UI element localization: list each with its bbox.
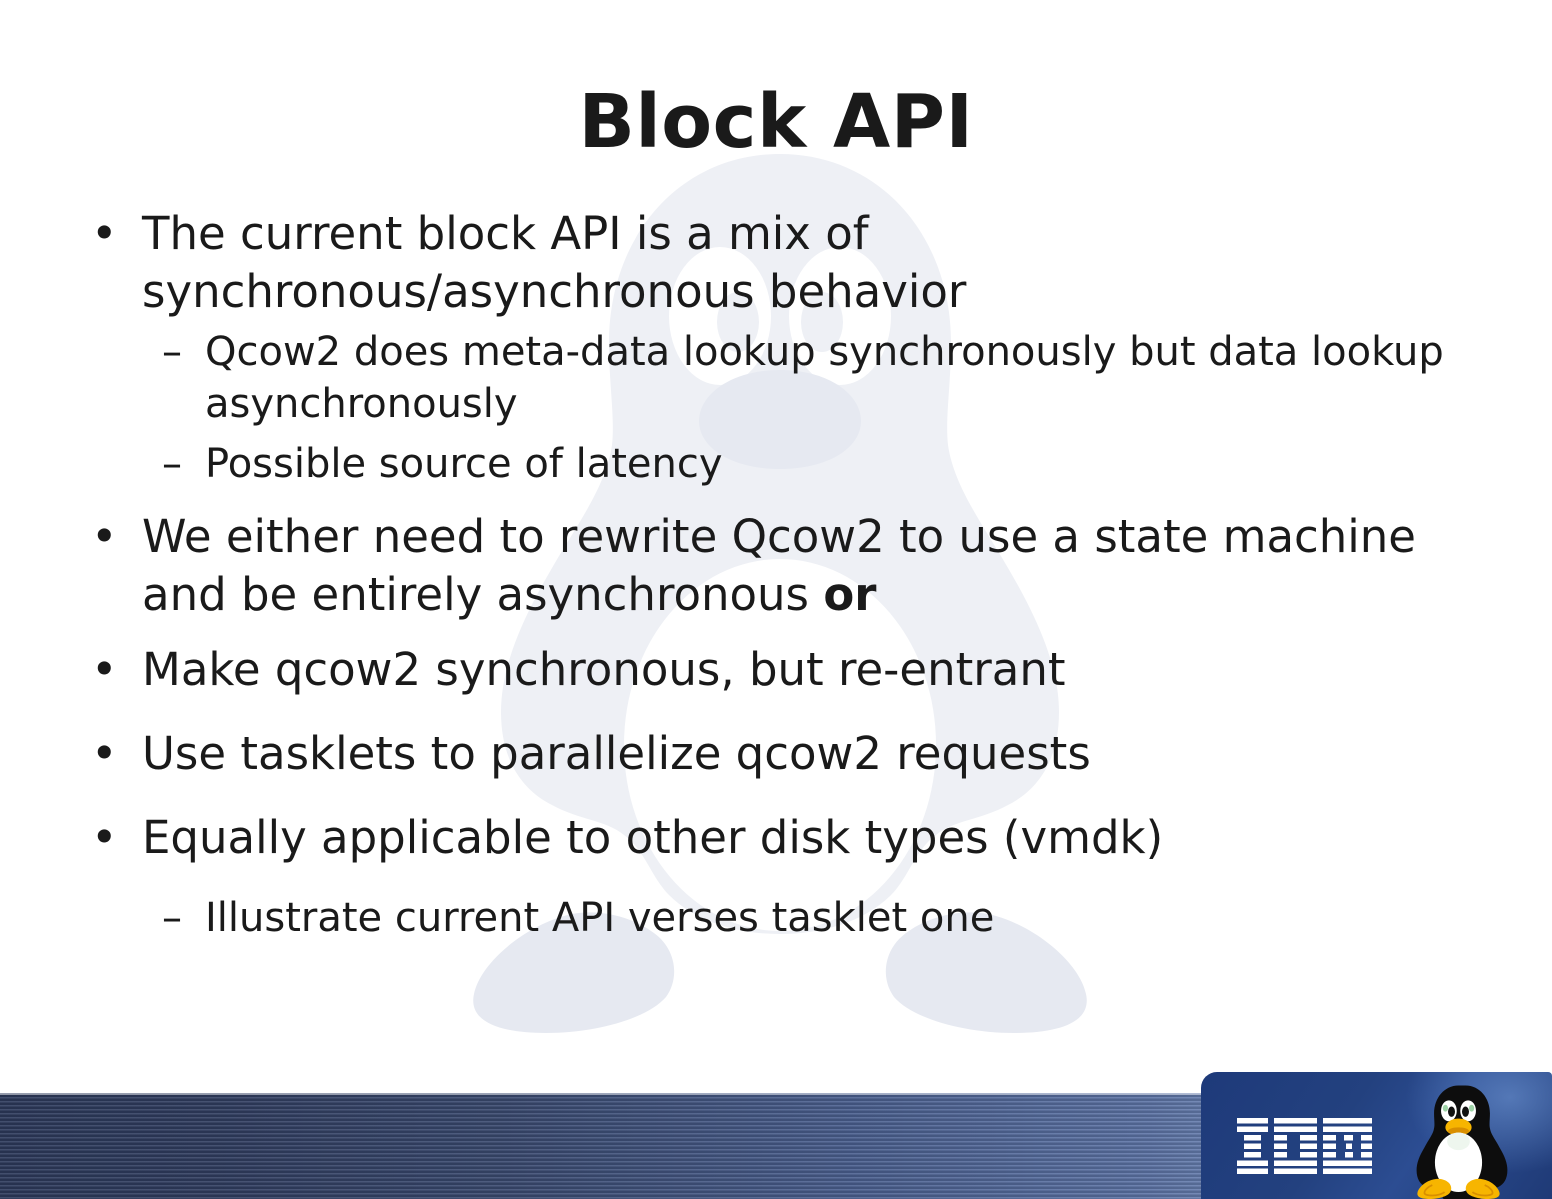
bullet-text: Illustrate current API verses tasklet on… xyxy=(205,895,994,941)
bullet-text: Qcow2 does meta-data lookup synchronousl… xyxy=(205,329,1444,427)
slide: Block API • The current block API is a m… xyxy=(0,0,1552,1199)
bullet-text: Make qcow2 synchronous, but re-entrant xyxy=(142,643,1066,696)
bullet-item: • The current block API is a mix of sync… xyxy=(78,205,1432,320)
bullet-item: • We either need to rewrite Qcow2 to use… xyxy=(78,508,1432,623)
bullet-item: • Make qcow2 synchronous, but re-entrant xyxy=(78,641,1432,699)
tux-penguin-icon xyxy=(1406,1082,1511,1199)
bullet-item: • Equally applicable to other disk types… xyxy=(78,809,1432,867)
ibm-logo-icon xyxy=(1237,1118,1372,1174)
bullet-text: Use tasklets to parallelize qcow2 reques… xyxy=(142,727,1091,780)
bullet-text: We either need to rewrite Qcow2 to use a… xyxy=(142,510,1416,621)
bullet-marker: • xyxy=(91,641,118,699)
bullet-marker: – xyxy=(162,326,182,378)
bullet-marker: – xyxy=(162,892,182,944)
bullet-item: – Possible source of latency xyxy=(78,438,1455,490)
bullet-marker: • xyxy=(91,205,118,263)
bullet-marker: – xyxy=(162,438,182,490)
bullet-text: The current block API is a mix of synchr… xyxy=(142,207,966,318)
bullet-marker: • xyxy=(91,725,118,783)
bullet-marker: • xyxy=(91,508,118,566)
bullet-marker: • xyxy=(91,809,118,867)
slide-title: Block API xyxy=(0,84,1552,162)
bullet-text-emphasis: or xyxy=(823,568,876,621)
bullet-item: – Illustrate current API verses tasklet … xyxy=(78,892,1455,944)
bullet-item: – Qcow2 does meta-data lookup synchronou… xyxy=(78,326,1455,430)
slide-body: • The current block API is a mix of sync… xyxy=(78,205,1478,952)
ibm-logo-box xyxy=(1201,1072,1552,1199)
bullet-text: Possible source of latency xyxy=(205,441,723,487)
bullet-item: • Use tasklets to parallelize qcow2 requ… xyxy=(78,725,1432,783)
bullet-text-prefix: We either need to rewrite Qcow2 to use a… xyxy=(142,510,1416,621)
bullet-text: Equally applicable to other disk types (… xyxy=(142,811,1163,864)
